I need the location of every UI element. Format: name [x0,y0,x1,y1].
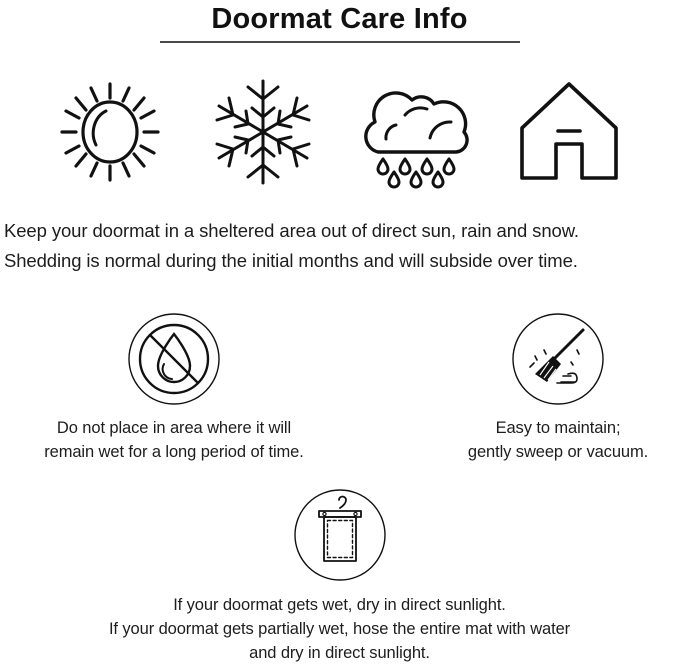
tip-dry-line-3: and dry in direct sunlight. [0,641,679,665]
tip-dry-line-2: If your doormat gets partially wet, hose… [0,617,679,641]
broom-icon [511,312,605,406]
tip-sweep-caption: Easy to maintain; gently sweep or vacuum… [388,416,679,464]
header: Doormat Care Info [0,0,679,43]
hanging-mat-icon [293,488,387,582]
tip-dry-line-1: If your doormat gets wet, dry in direct … [0,593,679,617]
tip-no-water-caption: Do not place in area where it will remai… [4,416,344,464]
tips-row: Do not place in area where it will remai… [0,312,679,472]
house-icon [514,78,624,186]
title-underline-rule [160,41,520,43]
weather-icon-row [0,72,679,192]
intro-line-1: Keep your doormat in a sheltered area ou… [4,216,679,246]
sun-icon [58,76,162,188]
tip-sweep-line-1: Easy to maintain; [388,416,679,440]
tip-no-water-line-1: Do not place in area where it will [4,416,344,440]
weather-cell-house [504,73,634,191]
tip-no-water: Do not place in area where it will remai… [4,312,344,464]
intro-paragraph: Keep your doormat in a sheltered area ou… [4,216,679,276]
weather-cell-sun [45,73,175,191]
tip-sweep-line-2: gently sweep or vacuum. [388,440,679,464]
snowflake-icon [215,77,311,187]
weather-cell-snowflake [198,73,328,191]
intro-line-2: Shedding is normal during the initial mo… [4,246,679,276]
weather-cell-rain-cloud [351,73,481,191]
tip-no-water-line-2: remain wet for a long period of time. [4,440,344,464]
tip-dry: If your doormat gets wet, dry in direct … [0,488,679,665]
no-water-icon [127,312,221,406]
tip-dry-caption: If your doormat gets wet, dry in direct … [0,593,679,665]
tip-sweep: Easy to maintain; gently sweep or vacuum… [388,312,679,464]
rain-cloud-icon [352,76,480,188]
page-title: Doormat Care Info [0,0,679,36]
